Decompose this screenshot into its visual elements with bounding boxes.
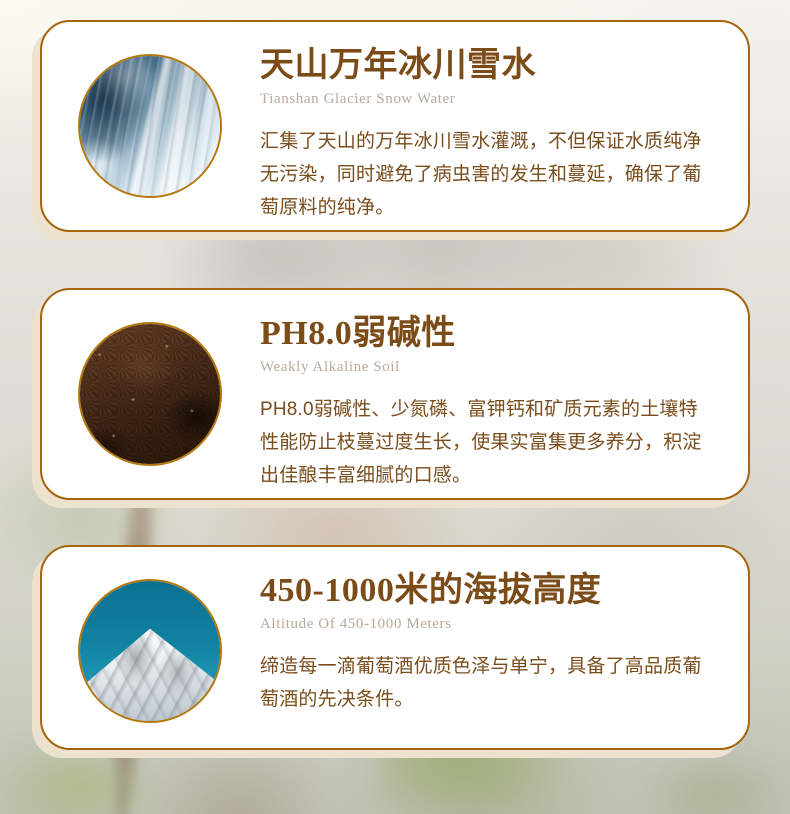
feature-card-list: 天山万年冰川雪水 Tianshan Glacier Snow Water 汇集了… xyxy=(0,0,790,814)
card-description: 汇集了天山的万年冰川雪水灌溉，不但保证水质纯净无污染，同时避免了病虫害的发生和蔓… xyxy=(260,125,716,225)
soil-photo-icon xyxy=(78,322,222,466)
card-text: PH8.0弱碱性 Weakly Alkaline Soil PH8.0弱碱性、少… xyxy=(222,290,748,514)
product-feature-page: 天山万年冰川雪水 Tianshan Glacier Snow Water 汇集了… xyxy=(0,0,790,814)
card-media xyxy=(78,322,222,466)
card-description: 缔造每一滴葡萄酒优质色泽与单宁，具备了高品质葡萄酒的先决条件。 xyxy=(260,650,716,717)
feature-card-water[interactable]: 天山万年冰川雪水 Tianshan Glacier Snow Water 汇集了… xyxy=(40,20,750,232)
card-subtitle: Weakly Alkaline Soil xyxy=(260,356,716,379)
card-media xyxy=(78,579,222,723)
card-text: 450-1000米的海拔高度 Altitude Of 450-1000 Mete… xyxy=(222,547,748,738)
card-description: PH8.0弱碱性、少氮磷、富钾钙和矿质元素的土壤特性能防止枝蔓过度生长，使果实富… xyxy=(260,393,716,493)
card-subtitle: Tianshan Glacier Snow Water xyxy=(260,88,716,111)
card-title: 450-1000米的海拔高度 xyxy=(260,571,716,611)
card-text: 天山万年冰川雪水 Tianshan Glacier Snow Water 汇集了… xyxy=(222,22,748,246)
feature-card-soil[interactable]: PH8.0弱碱性 Weakly Alkaline Soil PH8.0弱碱性、少… xyxy=(40,288,750,500)
feature-card-altitude[interactable]: 450-1000米的海拔高度 Altitude Of 450-1000 Mete… xyxy=(40,545,750,750)
card-body: 450-1000米的海拔高度 Altitude Of 450-1000 Mete… xyxy=(40,545,750,750)
card-subtitle: Altitude Of 450-1000 Meters xyxy=(260,613,716,636)
snow-mountain-photo-icon xyxy=(78,579,222,723)
waterfall-photo-icon xyxy=(78,54,222,198)
card-body: PH8.0弱碱性 Weakly Alkaline Soil PH8.0弱碱性、少… xyxy=(40,288,750,500)
card-media xyxy=(78,54,222,198)
card-title: 天山万年冰川雪水 xyxy=(260,46,716,86)
card-body: 天山万年冰川雪水 Tianshan Glacier Snow Water 汇集了… xyxy=(40,20,750,232)
card-title: PH8.0弱碱性 xyxy=(260,314,716,354)
